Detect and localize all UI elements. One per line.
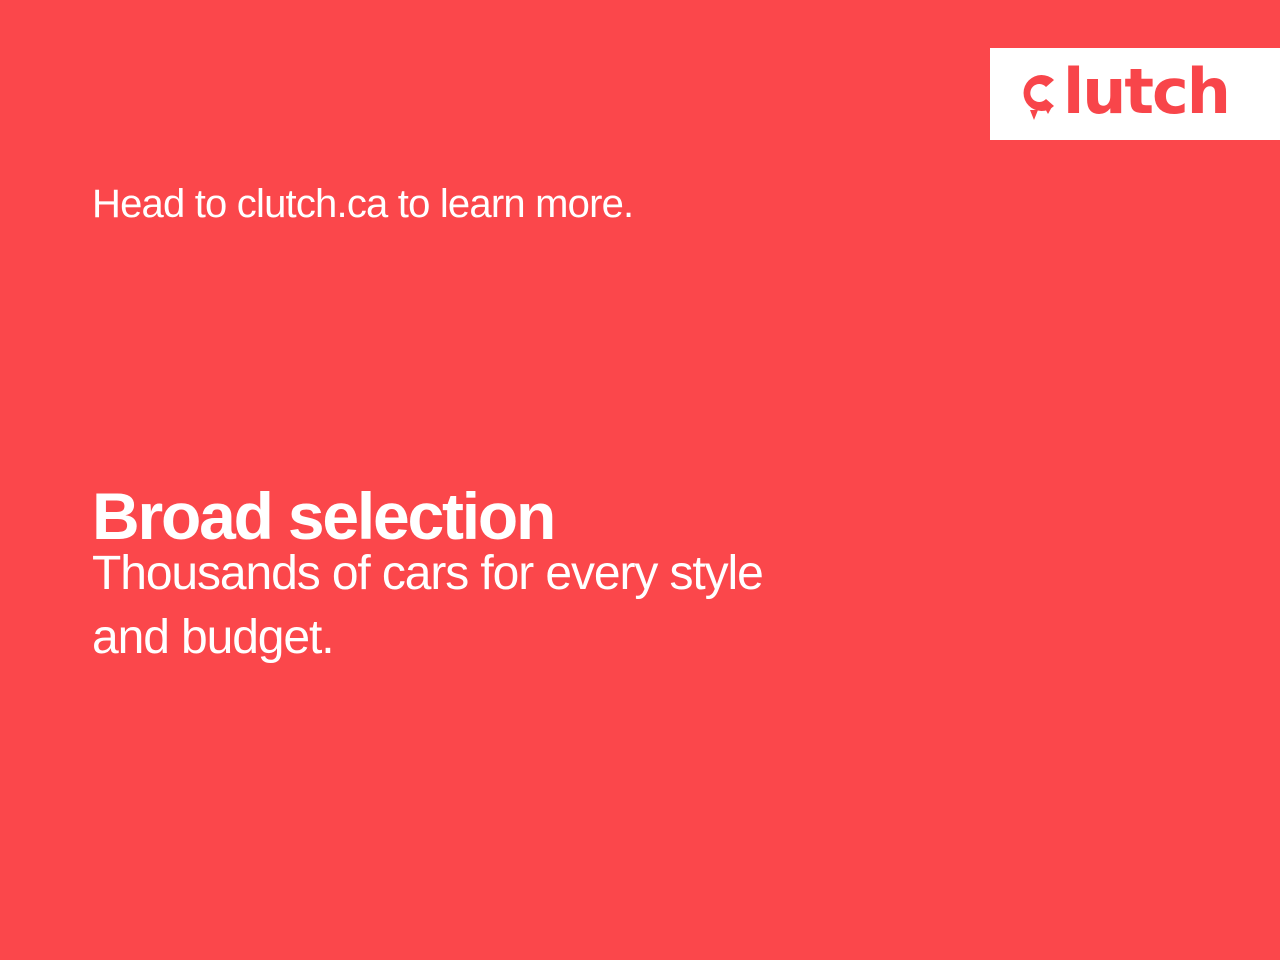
clutch-logo[interactable]: lutch: [990, 48, 1280, 140]
logo-wordmark: lutch: [1012, 63, 1229, 125]
subcopy: Thousands of cars for every style and bu…: [92, 542, 1052, 671]
subcopy-line: and budget.: [92, 606, 1052, 670]
subcopy-line: Thousands of cars for every style: [92, 542, 1052, 606]
slide-canvas: lutch Head to clutch.ca to learn more. B…: [0, 0, 1280, 960]
logo-wordmark-text: lutch: [1063, 61, 1229, 123]
clutch-c-mark-icon: [1012, 68, 1062, 126]
kicker-text: Head to clutch.ca to learn more.: [92, 181, 633, 228]
